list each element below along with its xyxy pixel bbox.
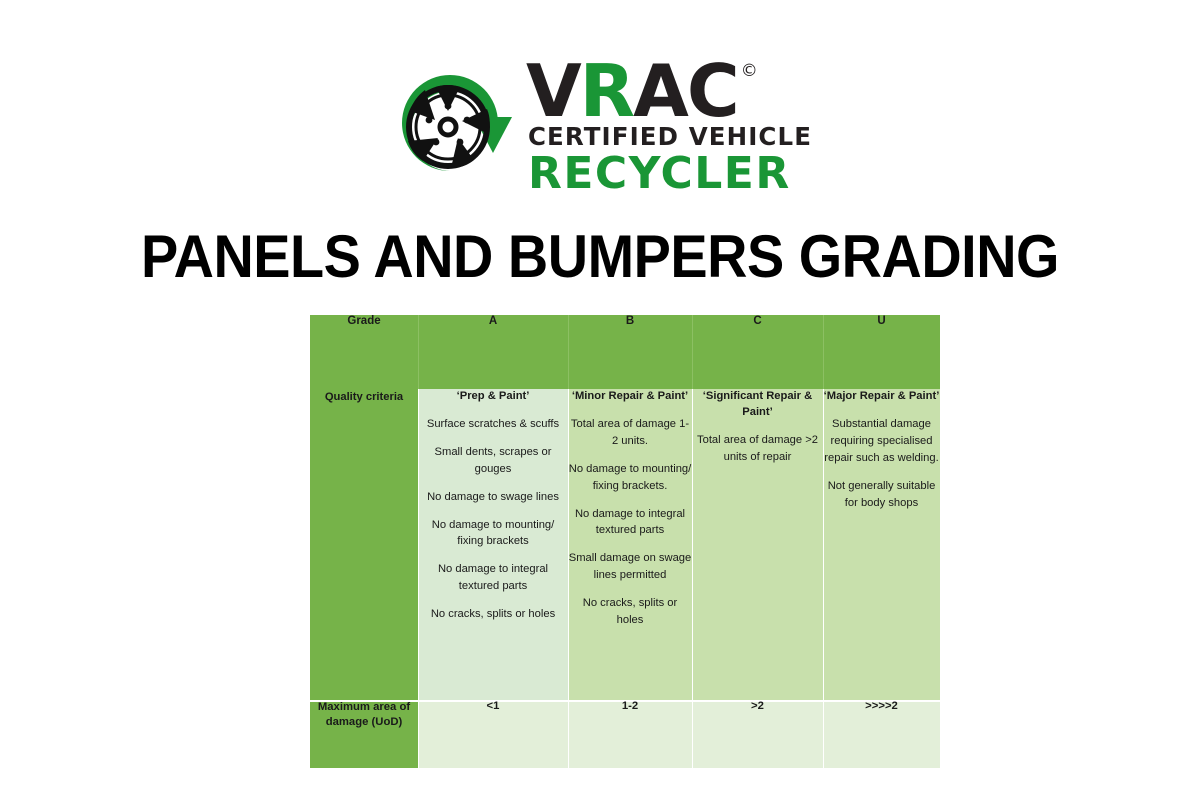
cell-b-item-3: No damage to integral textured parts <box>568 506 692 540</box>
table-header-row: Grade A B C U <box>310 315 940 389</box>
row-label-quality-criteria: Quality criteria <box>310 389 418 699</box>
wordmark-letter-a: A <box>633 60 687 123</box>
cell-max-area-c: >2 <box>692 700 823 768</box>
cell-criteria-c: ‘Significant Repair & Paint’ Total area … <box>692 389 823 699</box>
cell-a-item-5: No damage to integral textured parts <box>418 561 568 595</box>
row-label-maximum-area: Maximum area of damage (UoD) <box>310 700 418 768</box>
cell-c-title: ‘Significant Repair & Paint’ <box>692 389 823 421</box>
cell-a-item-2: Small dents, scrapes or gouges <box>418 444 568 478</box>
wordmark-letter-r: R <box>580 60 633 123</box>
panels-bumpers-grading-table: Grade A B C U Quality criteria ‘Prep & P… <box>310 315 940 768</box>
logo-inner: V R A C © CERTIFIED VEHICLE RECYCLER <box>388 58 812 195</box>
cell-a-item-1: Surface scratches & scuffs <box>418 416 568 433</box>
wordmark-recycler: RECYCLER <box>528 152 812 196</box>
copyright-icon: © <box>741 64 757 79</box>
cell-a-item-6: No cracks, splits or holes <box>418 606 568 623</box>
cell-b-item-2: No damage to mounting/ fixing brackets. <box>568 461 692 495</box>
cell-b-title: ‘Minor Repair & Paint’ <box>568 389 692 405</box>
table-row-maximum-area: Maximum area of damage (UoD) <1 1-2 >2 >… <box>310 700 940 768</box>
page-title: PANELS AND BUMPERS GRADING <box>42 222 1158 291</box>
cell-c-item-1: Total area of damage >2 units of repair <box>692 432 823 466</box>
header-grade-label: Grade <box>310 315 418 389</box>
brand-logo: V R A C © CERTIFIED VEHICLE RECYCLER <box>0 52 1200 202</box>
cell-u-item-2: Not generally suitable for body shops <box>823 478 940 512</box>
wordmark-subtitle: CERTIFIED VEHICLE <box>528 122 812 151</box>
cell-criteria-u: ‘Major Repair & Paint’ Substantial damag… <box>823 389 940 699</box>
wordmark-letter-v: V <box>526 60 580 123</box>
cell-u-title: ‘Major Repair & Paint’ <box>823 389 940 405</box>
header-grade-a: A <box>418 315 568 389</box>
cell-b-item-4: Small damage on swage lines permitted <box>568 550 692 584</box>
wordmark-vrac: V R A C © <box>526 60 812 123</box>
cell-a-item-3: No damage to swage lines <box>418 489 568 506</box>
table-row-quality-criteria: Quality criteria ‘Prep & Paint’ Surface … <box>310 389 940 699</box>
cell-u-item-1: Substantial damage requiring specialised… <box>823 416 940 466</box>
header-grade-u: U <box>823 315 940 389</box>
cell-criteria-b: ‘Minor Repair & Paint’ Total area of dam… <box>568 389 692 699</box>
cell-max-area-a: <1 <box>418 700 568 768</box>
cell-a-title: ‘Prep & Paint’ <box>418 389 568 405</box>
wordmark-letter-c: C <box>687 60 738 123</box>
logo-wordmark: V R A C © CERTIFIED VEHICLE RECYCLER <box>526 60 812 195</box>
cell-max-area-b: 1-2 <box>568 700 692 768</box>
header-grade-c: C <box>692 315 823 389</box>
cell-criteria-a: ‘Prep & Paint’ Surface scratches & scuff… <box>418 389 568 699</box>
cell-max-area-u: >>>>2 <box>823 700 940 768</box>
vrac-wheel-recycling-arrow-logo <box>388 61 520 193</box>
cell-b-item-1: Total area of damage 1-2 units. <box>568 416 692 450</box>
cell-a-item-4: No damage to mounting/ fixing brackets <box>418 517 568 551</box>
cell-b-item-5: No cracks, splits or holes <box>568 595 692 629</box>
header-grade-b: B <box>568 315 692 389</box>
